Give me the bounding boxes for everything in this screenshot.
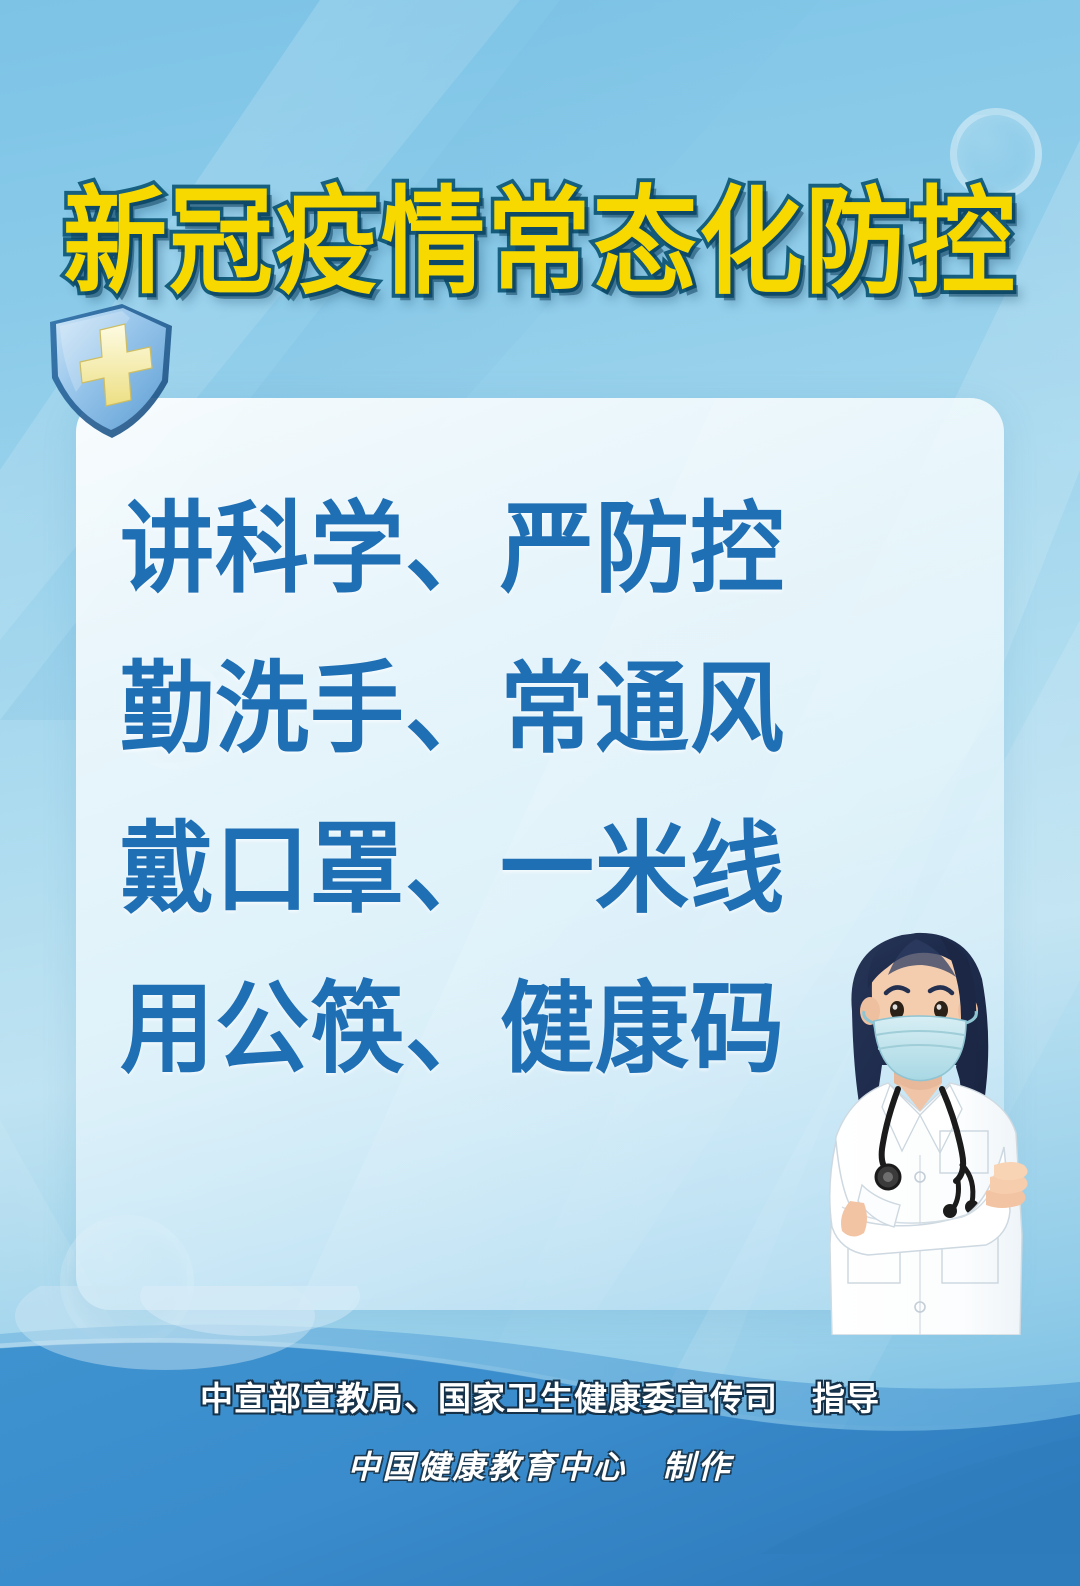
poster-title-container: 新冠疫情常态化防控 xyxy=(0,190,1080,294)
footer-producer-line: 中国健康教育中心 制作 xyxy=(0,1442,1080,1488)
slogan-list: 讲科学、严防控 勤洗手、常通风 戴口罩、一米线 用公筷、健康码 xyxy=(120,470,880,1110)
footer: 中宣部宣教局、国家卫生健康委宣传司 指导 中国健康教育中心 制作 xyxy=(0,1372,1080,1488)
slogan-line: 勤洗手、常通风 xyxy=(120,625,880,795)
slogan-line: 讲科学、严防控 xyxy=(120,465,880,635)
slogan-line: 用公筷、健康码 xyxy=(120,945,880,1115)
female-doctor-with-mask-illustration xyxy=(790,915,1080,1335)
slogan-line: 戴口罩、一米线 xyxy=(120,785,880,955)
shield-with-cross-icon xyxy=(30,296,188,446)
poster-canvas: 新冠疫情常态化防控 讲科学、严防控 勤洗手、常通风 戴口罩、一米线 用公筷、健康… xyxy=(0,0,1080,1586)
footer-guidance-line: 中宣部宣教局、国家卫生健康委宣传司 指导 xyxy=(0,1372,1080,1420)
page-title: 新冠疫情常态化防控 xyxy=(63,184,1017,300)
